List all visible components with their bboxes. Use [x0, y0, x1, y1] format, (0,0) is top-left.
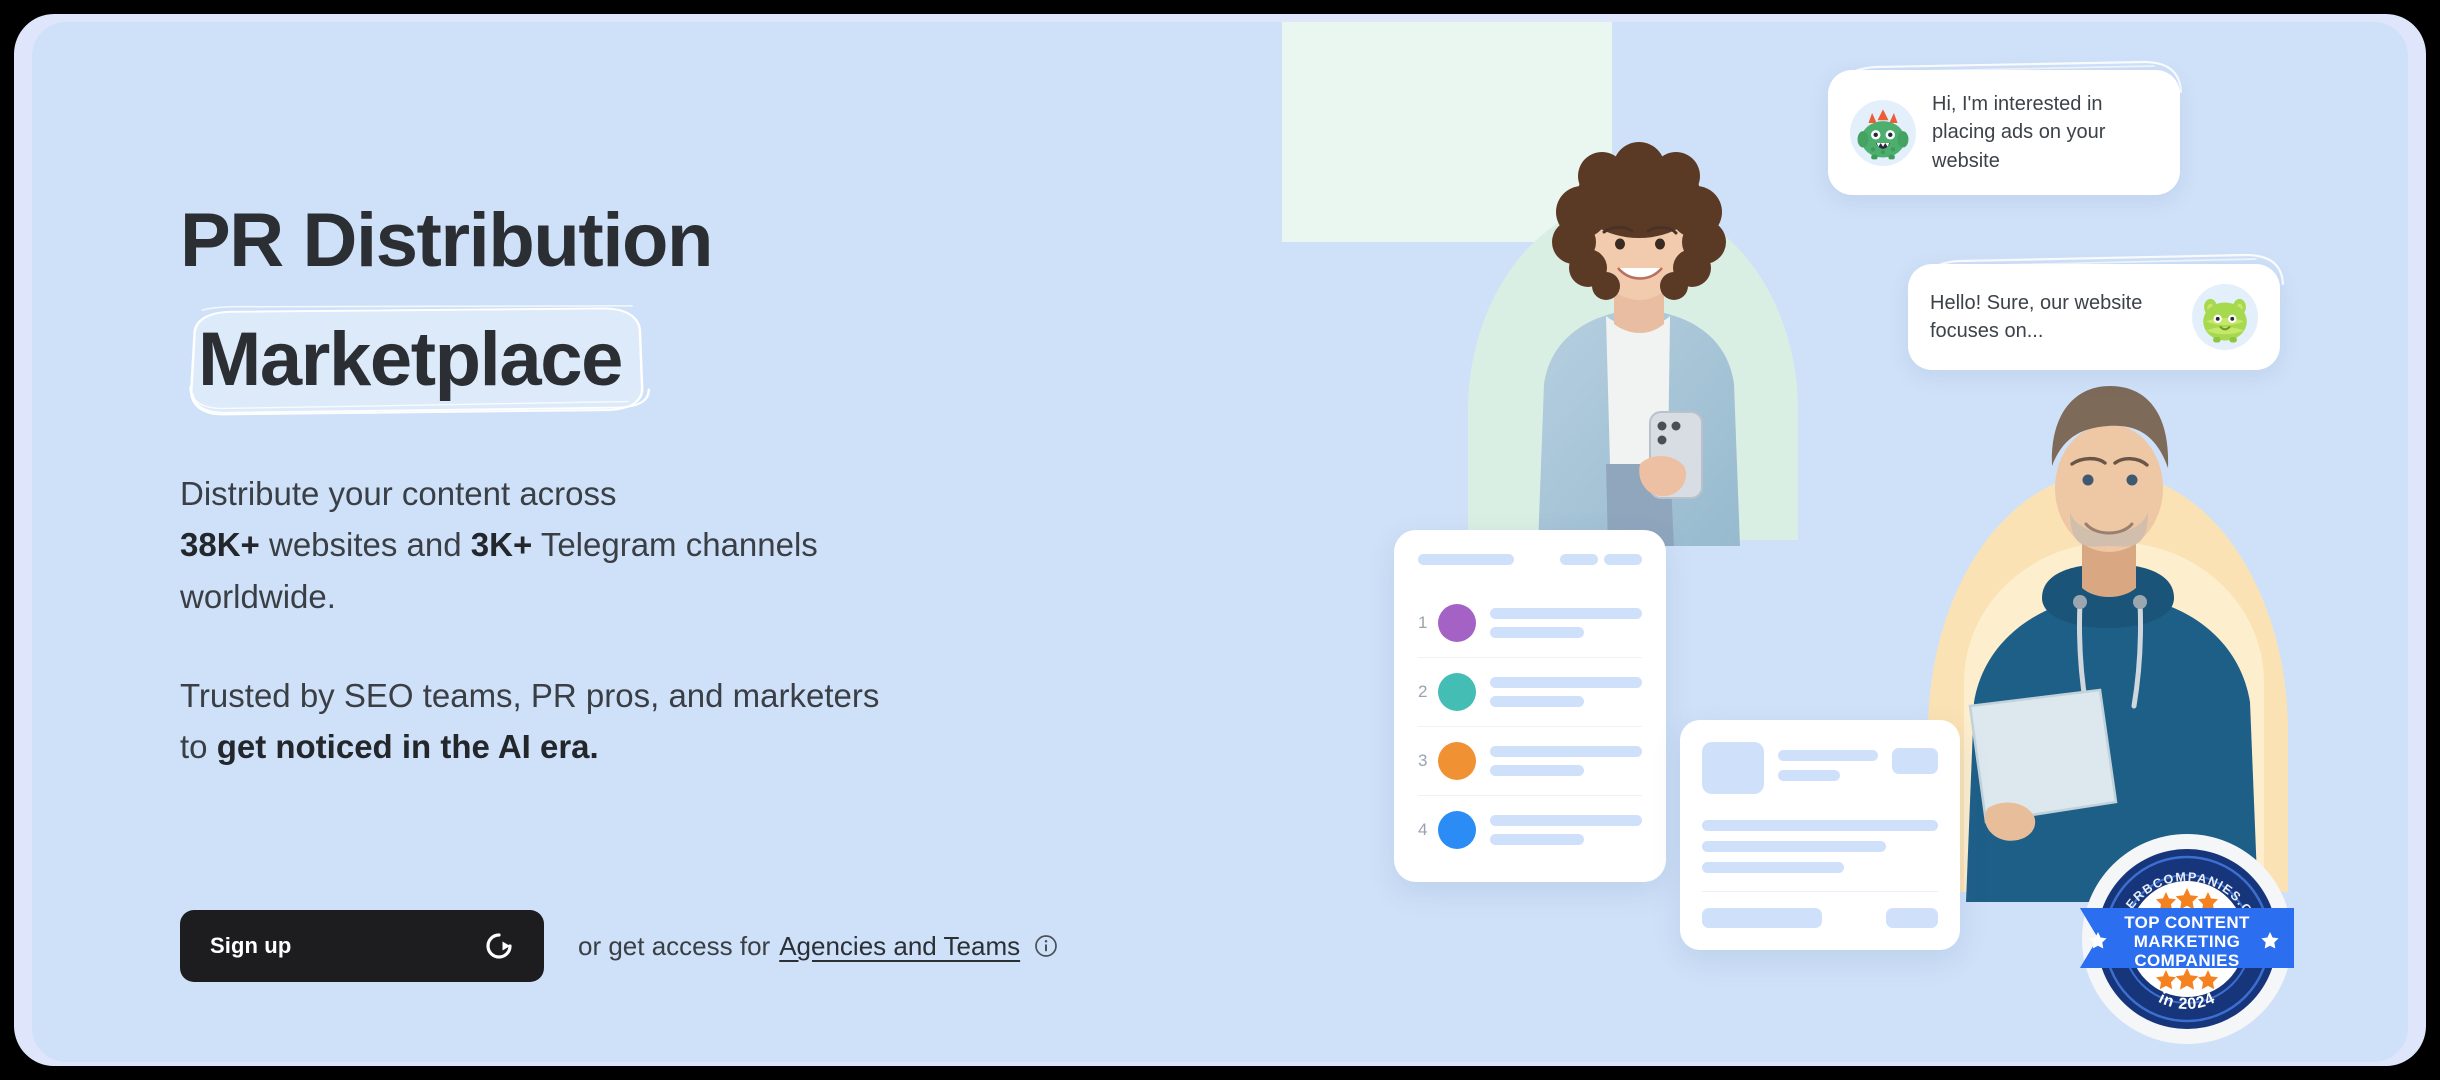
agencies-access-note: or get access for Agencies and Teams	[578, 931, 1058, 962]
circular-arrow-icon	[484, 931, 514, 961]
subcopy1-pre: Distribute your content across	[180, 475, 617, 512]
doc-footer-secondary	[1886, 908, 1938, 928]
access-prefix-label: or get access for	[578, 931, 770, 962]
subcopy-trusted: Trusted by SEO teams, PR pros, and marke…	[180, 670, 880, 772]
header-action-1	[1560, 554, 1598, 565]
sign-up-button-label: Sign up	[210, 933, 291, 959]
green-monster-avatar	[1850, 100, 1916, 166]
table-row[interactable]: 2	[1418, 658, 1642, 727]
doc-title-placeholder	[1778, 742, 1878, 790]
subcopy-distribution: Distribute your content across 38K+ webs…	[180, 468, 880, 621]
article-preview-card	[1680, 720, 1960, 950]
doc-tag-placeholder	[1892, 748, 1938, 774]
list-card-header	[1418, 554, 1642, 565]
table-row[interactable]: 1	[1418, 589, 1642, 658]
row-avatar-dot	[1438, 742, 1476, 780]
chat-bubble-inbound: Hi, I'm interested in placing ads on you…	[1828, 70, 2180, 195]
subcopy1-mid: websites and	[260, 526, 471, 563]
doc-card-header	[1702, 742, 1938, 794]
header-action-2	[1604, 554, 1642, 565]
row-avatar-dot	[1438, 811, 1476, 849]
row-avatar-dot	[1438, 604, 1476, 642]
chat-bubble-reply-text: Hello! Sure, our website focuses on...	[1930, 289, 2176, 346]
stat-websites: 38K+	[180, 526, 260, 563]
info-icon[interactable]	[1034, 934, 1058, 958]
doc-footer-placeholder	[1702, 908, 1938, 928]
header-title-placeholder	[1418, 554, 1514, 565]
hero-section: PR Distribution Marketplace Distribute y…	[32, 22, 2408, 1062]
row-text-placeholder	[1490, 815, 1642, 845]
page-title-line2-highlighted: Marketplace	[180, 305, 650, 416]
hero-illustration: Hi, I'm interested in placing ads on you…	[1282, 22, 2408, 1062]
award-badge: SUPERBCOMPANIES.COM in 2024	[2078, 830, 2296, 1048]
publishers-list-card: 1 2 3	[1394, 530, 1666, 882]
badge-ribbon-line1: TOP CONTENT	[2124, 913, 2250, 932]
row-text-placeholder	[1490, 746, 1642, 776]
page-title-line2-text: Marketplace	[198, 317, 622, 402]
badge-ribbon-line2: MARKETING	[2134, 932, 2241, 951]
sign-up-button[interactable]: Sign up	[180, 910, 544, 982]
table-row[interactable]: 3	[1418, 727, 1642, 796]
chat-bubble-inbound-text: Hi, I'm interested in placing ads on you…	[1932, 90, 2158, 175]
row-index: 2	[1418, 682, 1438, 702]
row-avatar-dot	[1438, 673, 1476, 711]
subcopy2-bold: get noticed in the AI era.	[217, 728, 599, 765]
man-with-laptop-photo	[1930, 302, 2286, 902]
row-text-placeholder	[1490, 677, 1642, 707]
row-text-placeholder	[1490, 608, 1642, 638]
header-actions-placeholder	[1560, 554, 1642, 565]
doc-divider	[1702, 891, 1938, 892]
doc-thumbnail-placeholder	[1702, 742, 1764, 794]
row-index: 1	[1418, 613, 1438, 633]
stat-telegram: 3K+	[471, 526, 532, 563]
chat-bubble-reply: Hello! Sure, our website focuses on...	[1908, 264, 2280, 370]
doc-body-placeholder	[1702, 820, 1938, 873]
page-title-line1: PR Distribution	[180, 198, 1180, 283]
table-row[interactable]: 4	[1418, 796, 1642, 864]
row-index: 3	[1418, 751, 1438, 771]
hero-copy-column: PR Distribution Marketplace Distribute y…	[180, 198, 1180, 772]
woman-with-phone-photo	[1478, 134, 1794, 546]
cta-row: Sign up or get access for Agencies and T…	[180, 910, 1058, 982]
agencies-and-teams-link[interactable]: Agencies and Teams	[779, 931, 1020, 962]
row-index: 4	[1418, 820, 1438, 840]
screenshot-frame: PR Distribution Marketplace Distribute y…	[0, 0, 2440, 1080]
lime-monster-avatar	[2192, 284, 2258, 350]
badge-ribbon-line3: COMPANIES	[2134, 951, 2239, 970]
doc-footer-primary	[1702, 908, 1822, 928]
